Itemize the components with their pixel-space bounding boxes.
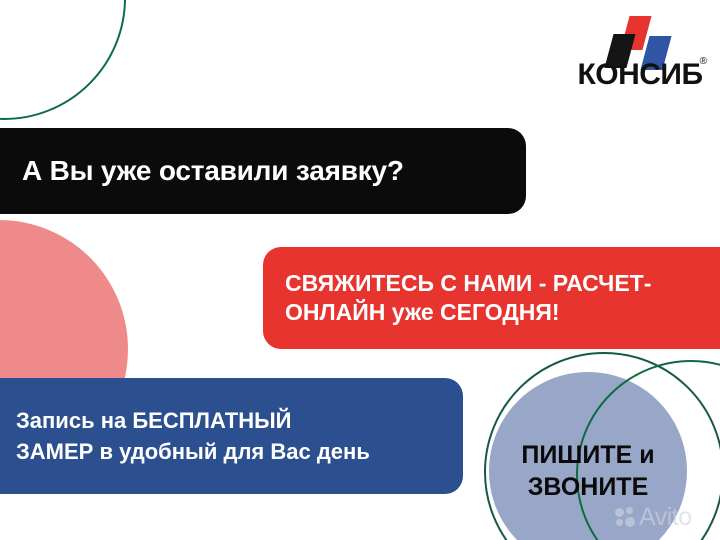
circle-callout-line-2: ЗВОНИТЕ (528, 471, 649, 504)
circle-callout-line-1: ПИШИТЕ и (521, 439, 654, 472)
banner-free-measurement-line-2: ЗАМЕР в удобный для Вас день (16, 436, 370, 467)
avito-dots-icon (615, 507, 637, 529)
banner-contact: СВЯЖИТЕСЬ С НАМИ - РАСЧЕТ- ОНЛАЙН уже СЕ… (263, 247, 720, 349)
green-ring-top-left-icon (0, 0, 126, 120)
banner-contact-line-2-caps-end: СЕГОДНЯ! (440, 299, 559, 325)
banner-question: А Вы уже оставили заявку? (0, 128, 526, 214)
banner-contact-line-2-lower: уже (392, 299, 440, 325)
avito-watermark: Avito (615, 503, 692, 532)
registered-trademark-mark: ® (700, 56, 707, 67)
logo-wordmark: КОНСИБ (573, 58, 707, 92)
banner-free-measurement-text: Запись на БЕСПЛАТНЫЙ ЗАМЕР в удобный для… (16, 405, 370, 467)
brand-logo: КОНСИБ ® (573, 16, 707, 94)
promo-poster: КОНСИБ ® А Вы уже оставили заявку? СВЯЖИ… (0, 0, 720, 540)
banner-contact-line-2: ОНЛАЙН уже СЕГОДНЯ! (285, 298, 651, 327)
logo-rhombus-group-icon (573, 16, 707, 60)
avito-watermark-label: Avito (639, 503, 692, 532)
banner-contact-line-1: СВЯЖИТЕСЬ С НАМИ - РАСЧЕТ- (285, 269, 651, 298)
banner-free-measurement: Запись на БЕСПЛАТНЫЙ ЗАМЕР в удобный для… (0, 378, 463, 494)
circle-callout-line-1-caps: ПИШИТЕ (521, 441, 639, 469)
banner-question-text: А Вы уже оставили заявку? (22, 155, 404, 187)
banner-contact-text: СВЯЖИТЕСЬ С НАМИ - РАСЧЕТ- ОНЛАЙН уже СЕ… (285, 269, 651, 328)
banner-contact-line-2-caps-start: ОНЛАЙН (285, 299, 392, 325)
circle-callout-line-1-lower: и (639, 441, 654, 469)
banner-free-measurement-line-1: Запись на БЕСПЛАТНЫЙ (16, 405, 370, 436)
